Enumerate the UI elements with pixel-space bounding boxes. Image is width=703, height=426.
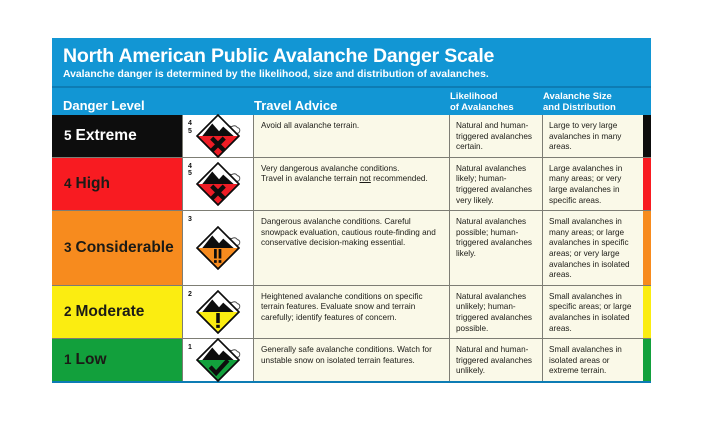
travel-advice-cell: Heightened avalanche conditions on speci…	[254, 286, 450, 338]
row-color-stripe	[643, 158, 651, 210]
table-row: 3Considerable3Dangerous avalanche condit…	[52, 210, 651, 285]
danger-level-name: Considerable	[76, 239, 174, 257]
size-distribution-cell: Small avalanches in specific areas; or l…	[543, 286, 643, 338]
row-color-stripe	[643, 115, 651, 157]
travel-advice-line-2: Travel in avalanche terrain not recommen…	[261, 174, 442, 185]
size-distribution-cell: Large to very large avalanches in many a…	[543, 115, 643, 157]
travel-advice-line-1: Very dangerous avalanche conditions.	[261, 164, 442, 175]
row-color-stripe	[643, 339, 651, 381]
danger-level-number: 2	[64, 304, 72, 319]
table-row: 1Low1Generally safe avalanche conditions…	[52, 338, 651, 381]
size-distribution-cell: Small avalanches in isolated areas or ex…	[543, 339, 643, 381]
danger-level-name: Extreme	[76, 127, 137, 145]
danger-level-cell-considerable[interactable]: 3Considerable	[52, 211, 182, 285]
footer-text: Safe backcountry travel requires trainin…	[64, 387, 639, 397]
column-header-travel-advice: Travel Advice	[254, 98, 450, 113]
travel-advice-cell: Generally safe avalanche conditions. Wat…	[254, 339, 450, 381]
column-header-row: Danger Level Travel Advice Likelihood of…	[52, 88, 651, 115]
poster-footer: Safe backcountry travel requires trainin…	[52, 381, 651, 401]
icon-cell: 45	[182, 115, 254, 157]
danger-level-cell-extreme[interactable]: 5Extreme	[52, 115, 182, 157]
danger-level-cell-high[interactable]: 4High	[52, 158, 182, 210]
likelihood-cell: Natural avalanches likely; human-trigger…	[450, 158, 543, 210]
travel-advice-cell: Avoid all avalanche terrain.	[254, 115, 450, 157]
likelihood-cell: Natural avalanches unlikely; human-trigg…	[450, 286, 543, 338]
travel-advice-cell: Very dangerous avalanche conditions.Trav…	[254, 158, 450, 210]
danger-scale-table: 5Extreme45Avoid all avalanche terrain.Na…	[52, 115, 651, 381]
travel-advice-emphasis: not	[359, 174, 370, 183]
likelihood-cell: Natural and human-triggered avalanches c…	[450, 115, 543, 157]
page-title: North American Public Avalanche Danger S…	[63, 45, 641, 67]
poster-header: North American Public Avalanche Danger S…	[52, 38, 651, 85]
high-hazard-icon	[183, 158, 253, 210]
icon-cell: 1	[182, 339, 254, 381]
column-header-size-line1: Avalanche Size	[543, 92, 651, 103]
icon-cell: 45	[182, 158, 254, 210]
danger-level-name: Low	[76, 351, 107, 369]
danger-level-name: Moderate	[76, 303, 145, 321]
likelihood-cell: Natural and human-triggered avalanches u…	[450, 339, 543, 381]
icon-cell: 3	[182, 211, 254, 285]
row-color-stripe	[643, 211, 651, 285]
table-row: 5Extreme45Avoid all avalanche terrain.Na…	[52, 115, 651, 157]
extreme-hazard-icon	[183, 115, 253, 157]
icon-cell: 2	[182, 286, 254, 338]
danger-level-cell-low[interactable]: 1Low	[52, 339, 182, 381]
danger-level-number: 4	[64, 176, 72, 191]
travel-advice-cell: Dangerous avalanche conditions. Careful …	[254, 211, 450, 285]
danger-level-name: High	[76, 175, 110, 193]
moderate-hazard-icon	[183, 286, 253, 338]
row-color-stripe	[643, 286, 651, 338]
danger-level-number: 1	[64, 352, 72, 367]
considerable-hazard-icon	[183, 211, 253, 285]
column-header-likelihood-line1: Likelihood	[450, 92, 543, 103]
column-header-likelihood-line2: of Avalanches	[450, 103, 543, 114]
avalanche-danger-scale-poster: North American Public Avalanche Danger S…	[52, 38, 651, 380]
column-header-size-line2: and Distribution	[543, 103, 651, 114]
danger-level-number: 5	[64, 128, 72, 143]
table-row: 4High45Very dangerous avalanche conditio…	[52, 157, 651, 210]
low-hazard-icon	[183, 339, 253, 381]
danger-level-number: 3	[64, 240, 72, 255]
danger-level-cell-moderate[interactable]: 2Moderate	[52, 286, 182, 338]
size-distribution-cell: Small avalanches in many areas; or large…	[543, 211, 643, 285]
column-header-size-distribution: Avalanche Size and Distribution	[543, 92, 651, 113]
page-subtitle: Avalanche danger is determined by the li…	[63, 68, 641, 81]
column-header-danger-level: Danger Level	[52, 98, 182, 113]
likelihood-cell: Natural avalanches possible; human-trigg…	[450, 211, 543, 285]
column-header-likelihood: Likelihood of Avalanches	[450, 92, 543, 113]
table-row: 2Moderate2Heightened avalanche condition…	[52, 285, 651, 338]
size-distribution-cell: Large avalanches in many areas; or very …	[543, 158, 643, 210]
